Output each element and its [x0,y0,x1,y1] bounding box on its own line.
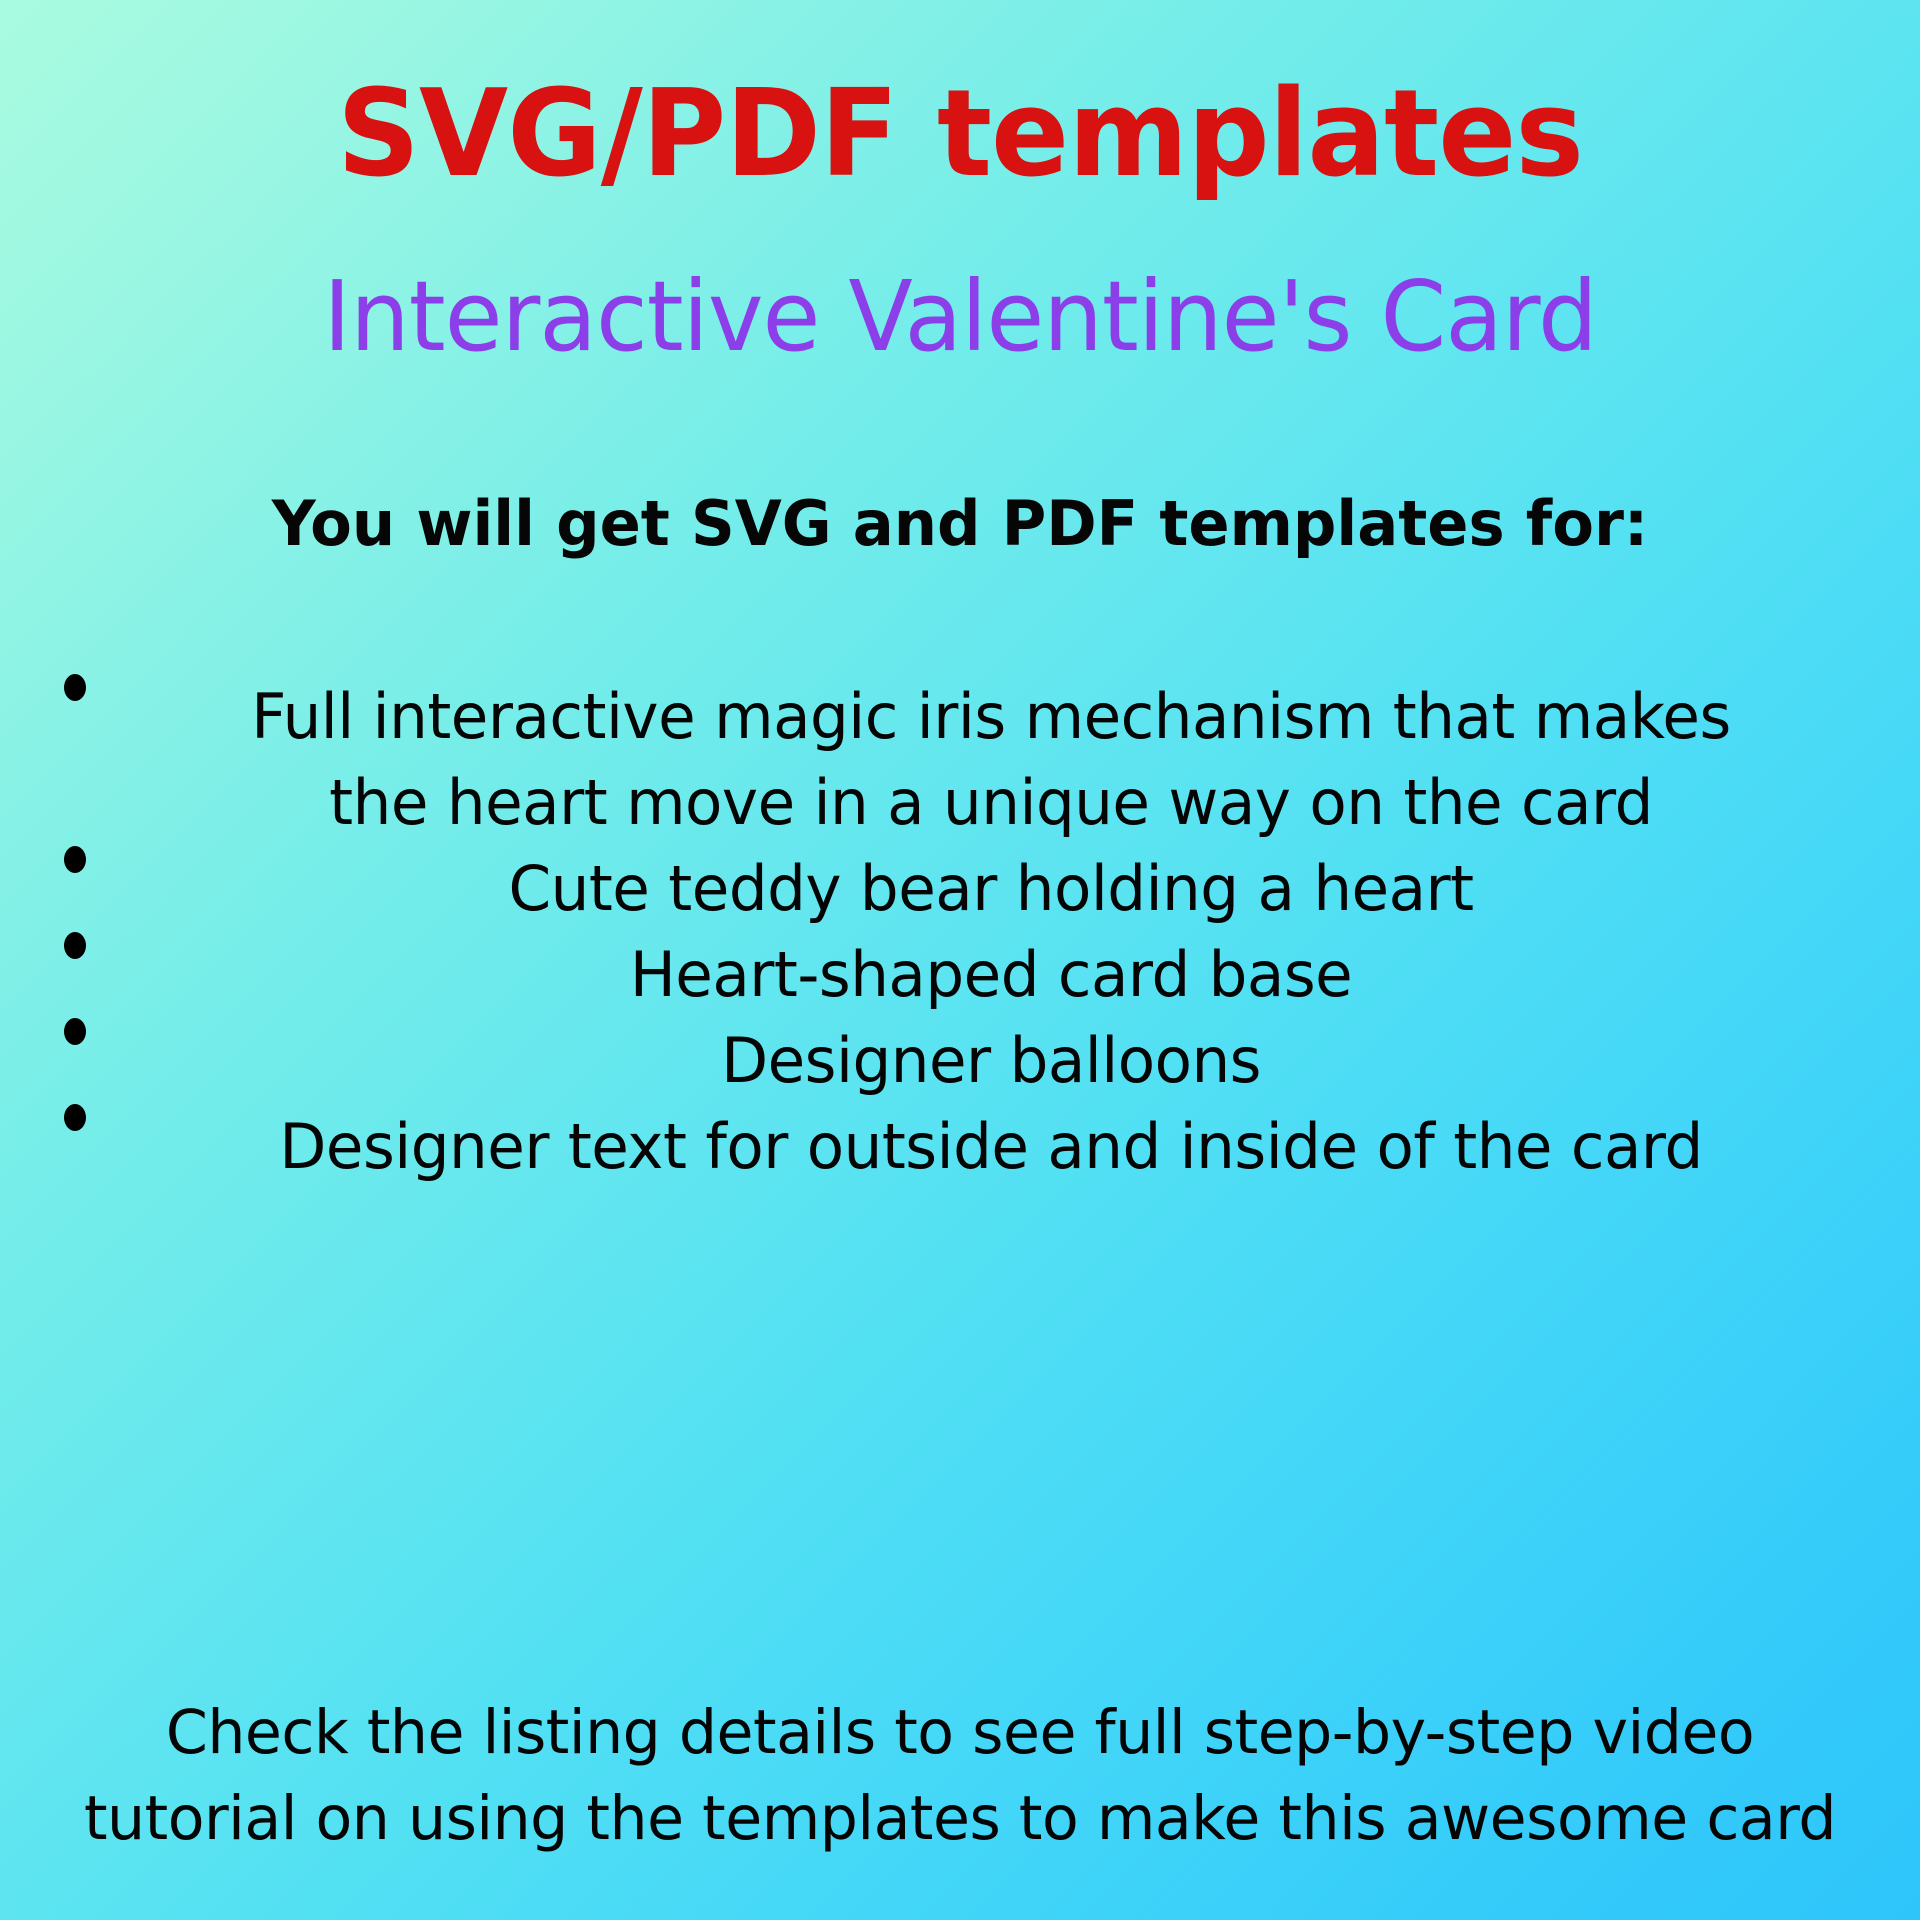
list-item-label: Designer text for outside and inside of … [121,1104,1866,1190]
list-item-label: Heart-shaped card base [121,932,1866,1018]
list-item: Heart-shaped card base [0,932,1920,1018]
list-item-label: Full interactive magic iris mechanism th… [121,674,1866,760]
lead-heading: You will get SVG and PDF templates for: [19,491,1901,556]
list-item-continuation: the heart move in a unique way on the ca… [0,760,1920,846]
list-item: Designer text for outside and inside of … [0,1104,1920,1190]
list-item-label-wrap: the heart move in a unique way on the ca… [121,760,1866,846]
bullet-dot-icon [42,932,108,959]
list-item: Designer balloons [0,1018,1920,1104]
bullet-dot-icon [42,674,108,701]
list-item-label: Cute teddy bear holding a heart [121,846,1866,932]
list-item: Full interactive magic iris mechanism th… [0,674,1920,760]
list-item: Cute teddy bear holding a heart [0,846,1920,932]
feature-list: Full interactive magic iris mechanism th… [0,674,1920,1190]
bullet-dot-icon [42,1018,108,1045]
footer-note: Check the listing details to see full st… [14,1690,1905,1862]
list-item-label: Designer balloons [121,1018,1866,1104]
page-subtitle: Interactive Valentine's Card [29,268,1891,365]
promo-poster: SVG/PDF templates Interactive Valentine'… [0,0,1920,1920]
page-title: SVG/PDF templates [38,74,1881,196]
footer-line-1: Check the listing details to see full st… [28,1690,1892,1776]
footer-line-2: tutorial on using the templates to make … [28,1776,1892,1862]
bullet-dot-icon [42,846,108,873]
bullet-dot-icon [42,1104,108,1131]
